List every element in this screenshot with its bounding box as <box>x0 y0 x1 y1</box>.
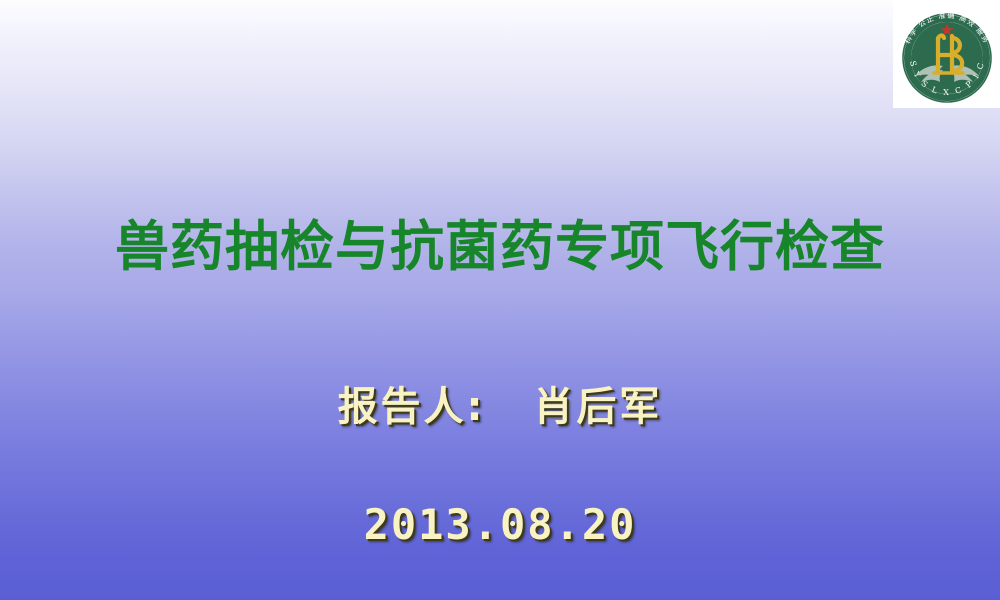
presenter-line: 报告人: 肖后军 <box>0 374 1000 432</box>
slide-title: 兽药抽检与抗菌药专项飞行检查 <box>60 214 940 281</box>
presenter-separator <box>486 384 534 430</box>
title-slide: 科学 公正 准确 高效 服务 S Y S L X C P I C <box>0 0 1000 600</box>
logo-emblem-icon: 科学 公正 准确 高效 服务 S Y S L X C P I C <box>893 0 1000 108</box>
organization-logo: 科学 公正 准确 高效 服务 S Y S L X C P I C <box>893 0 1000 108</box>
presenter-name: 肖后军 <box>533 384 662 430</box>
presenter-label: 报告人: <box>338 384 486 430</box>
slide-date: 2013.08.20 <box>0 500 1000 549</box>
